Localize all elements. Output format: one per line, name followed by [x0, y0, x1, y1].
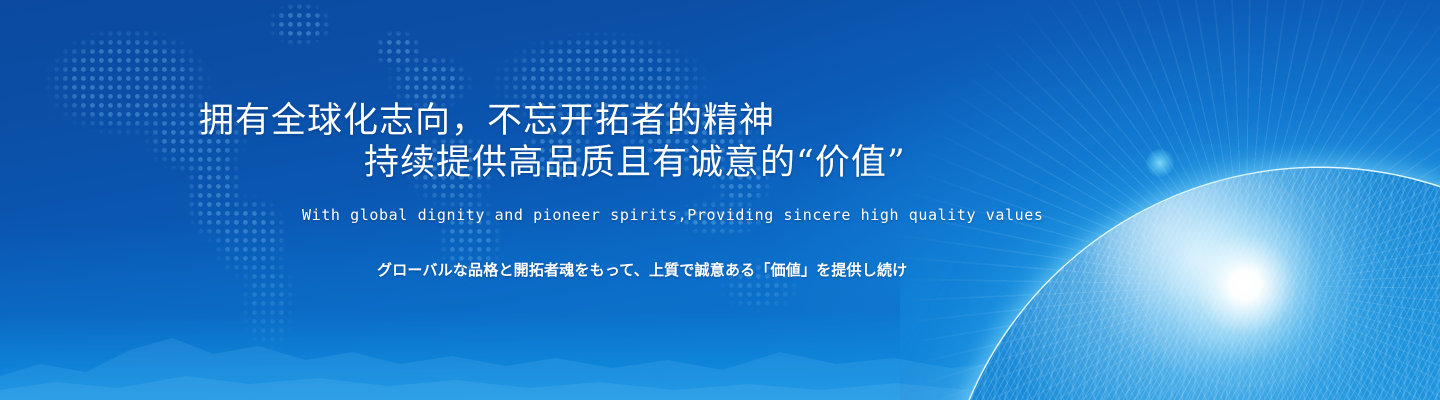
lens-flare-dot-icon	[1146, 149, 1174, 177]
hero-banner: 拥有全球化志向，不忘开拓者的精神 持续提供高品质且有诚意的“价值” With g…	[0, 0, 1440, 400]
subline-english: With global dignity and pioneer spirits,…	[302, 206, 1044, 224]
subline-japanese: グローバルな品格と開拓者魂をもって、上質で誠意ある「価値」を提供し続け	[377, 259, 907, 280]
headline-line-2: 持续提供高品质且有诚意的“价值”	[364, 134, 906, 185]
